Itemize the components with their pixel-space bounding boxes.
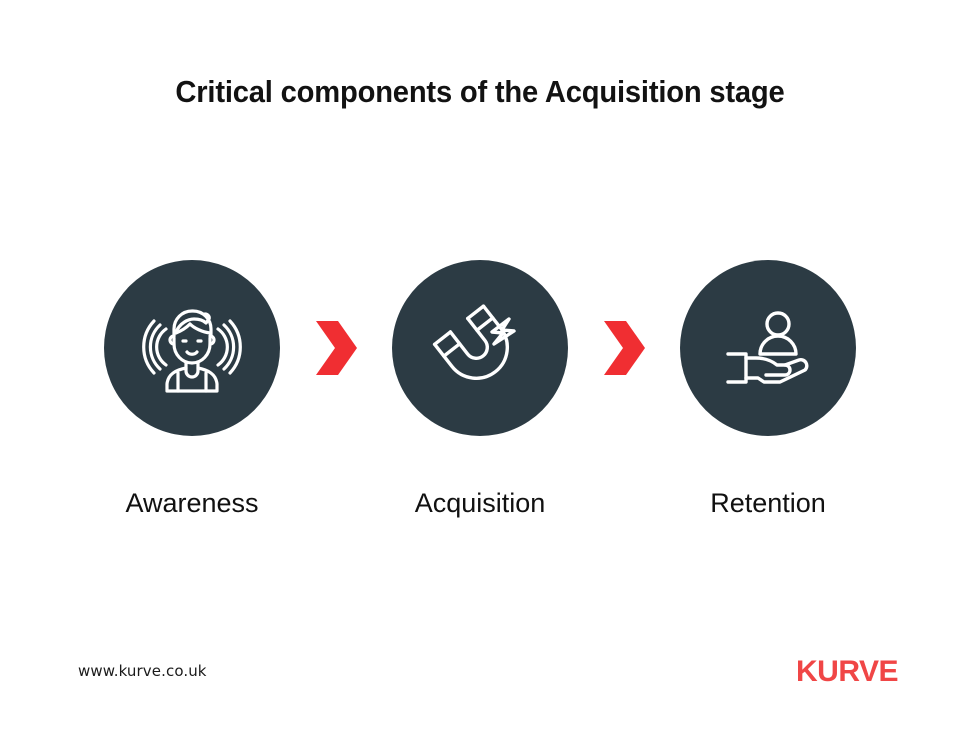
flow-connector-1 [280,318,392,378]
flow-stage-retention[interactable] [680,260,856,436]
stage-label-acquisition: Acquisition [392,488,568,519]
chevron-right-icon [312,320,360,376]
slide-canvas: Critical components of the Acquisition s… [0,0,960,750]
stage-icon-circle [104,260,280,436]
stage-label-awareness: Awareness [104,488,280,519]
flow-diagram [0,258,960,438]
flow-stage-awareness[interactable] [104,260,280,436]
stage-icon-circle [680,260,856,436]
flow-stage-acquisition[interactable] [392,260,568,436]
person-soundwaves-icon [136,292,248,404]
magnet-spark-icon [424,292,536,404]
kurve-logo: KURVE [796,655,898,689]
stage-label-retention: Retention [680,488,856,519]
flow-stage-labels: Awareness Acquisition Retention [0,482,960,524]
page-title: Critical components of the Acquisition s… [29,74,931,110]
chevron-right-icon [600,320,648,376]
stage-icon-circle [392,260,568,436]
hand-holding-person-icon [712,292,824,404]
flow-connector-2 [568,318,680,378]
footer-website-url[interactable]: www.kurve.co.uk [78,662,207,680]
